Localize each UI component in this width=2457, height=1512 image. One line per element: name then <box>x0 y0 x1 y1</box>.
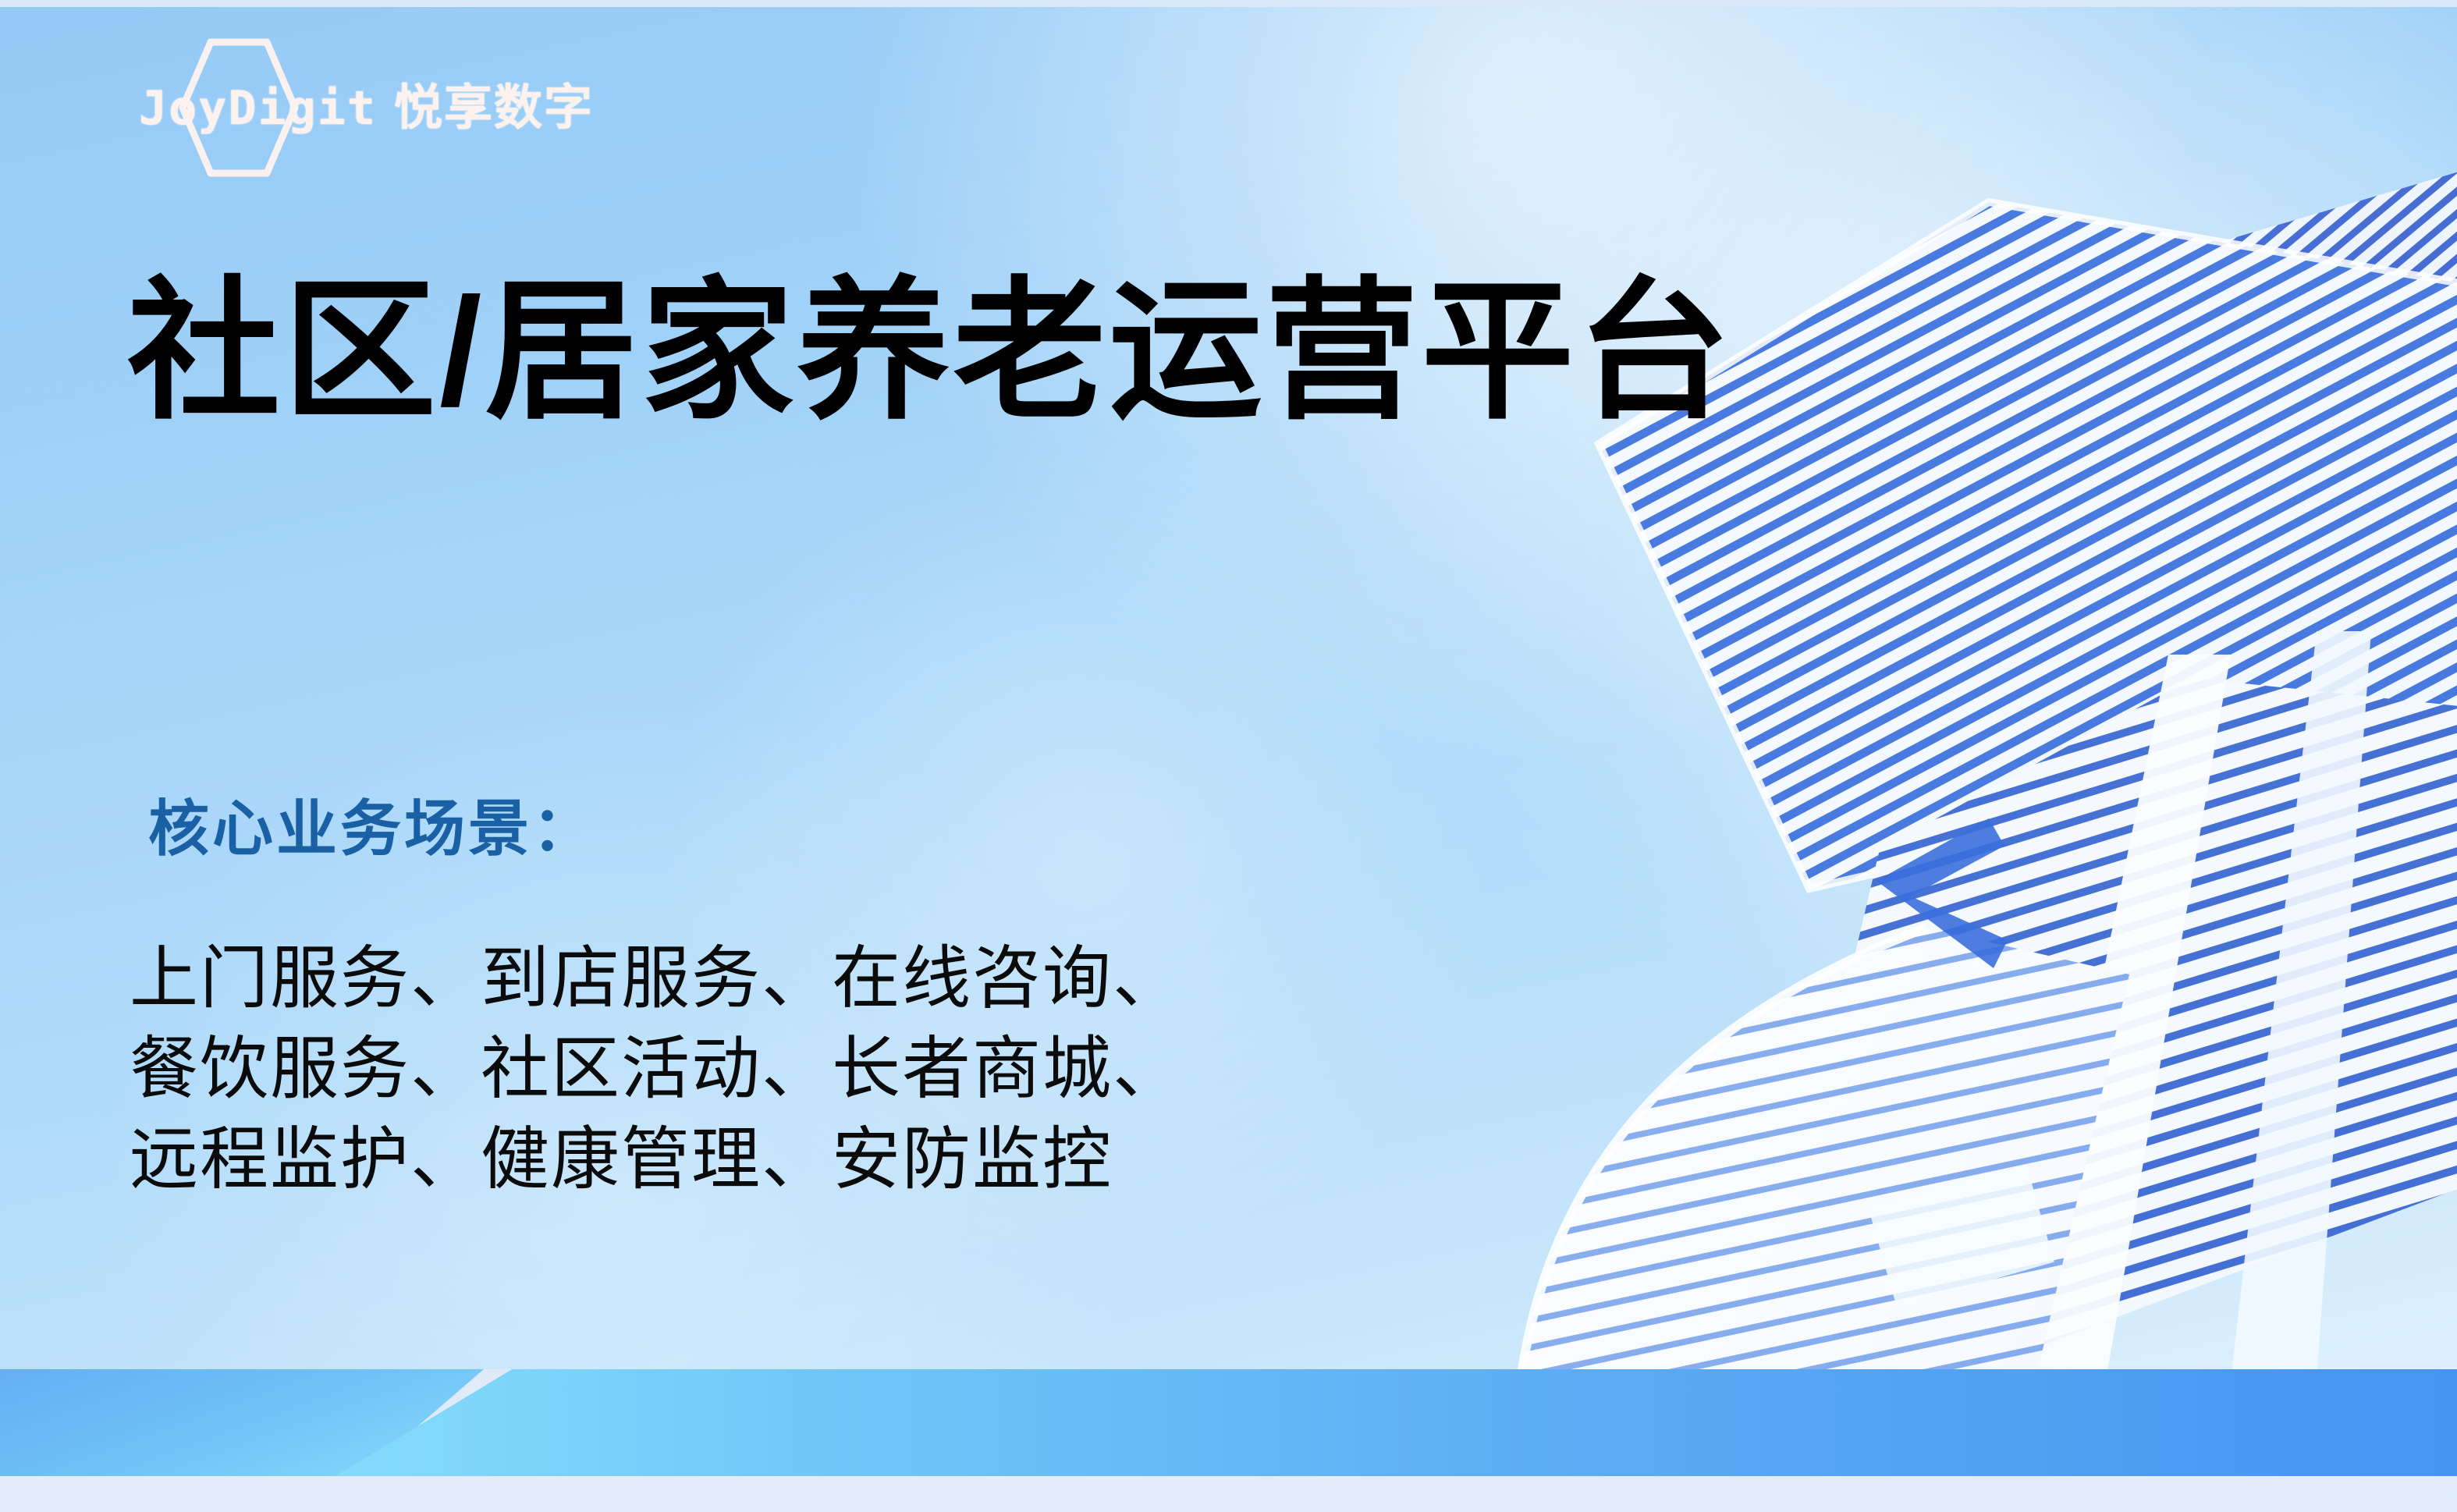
brand-logo: JoyDigit 悦享数字 <box>139 75 594 142</box>
scenario-line-3: 远程监护、健康管理、安防监控 <box>130 1114 1183 1205</box>
logo-chinese-text: 悦享数字 <box>394 84 594 133</box>
scenario-list: 上门服务、到店服务、在线咨询、 餐饮服务、社区活动、长者商城、 远程监护、健康管… <box>130 933 1183 1205</box>
bottom-band <box>0 1369 2457 1512</box>
logo-english-text: JoyDigit <box>139 85 377 132</box>
top-edge-strip <box>0 0 2457 7</box>
scenario-line-1: 上门服务、到店服务、在线咨询、 <box>130 933 1183 1024</box>
scenario-line-2: 餐饮服务、社区活动、长者商城、 <box>130 1024 1183 1114</box>
section-heading: 核心业务场景： <box>148 780 596 868</box>
building-illustration <box>1443 7 2457 1375</box>
page-title: 社区/居家养老运营平台 <box>127 269 1733 435</box>
slide-canvas: JoyDigit 悦享数字 社区/居家养老运营平台 核心业务场景： 上门服务、到… <box>0 0 2457 1512</box>
bottom-shape-right <box>336 1369 2457 1476</box>
